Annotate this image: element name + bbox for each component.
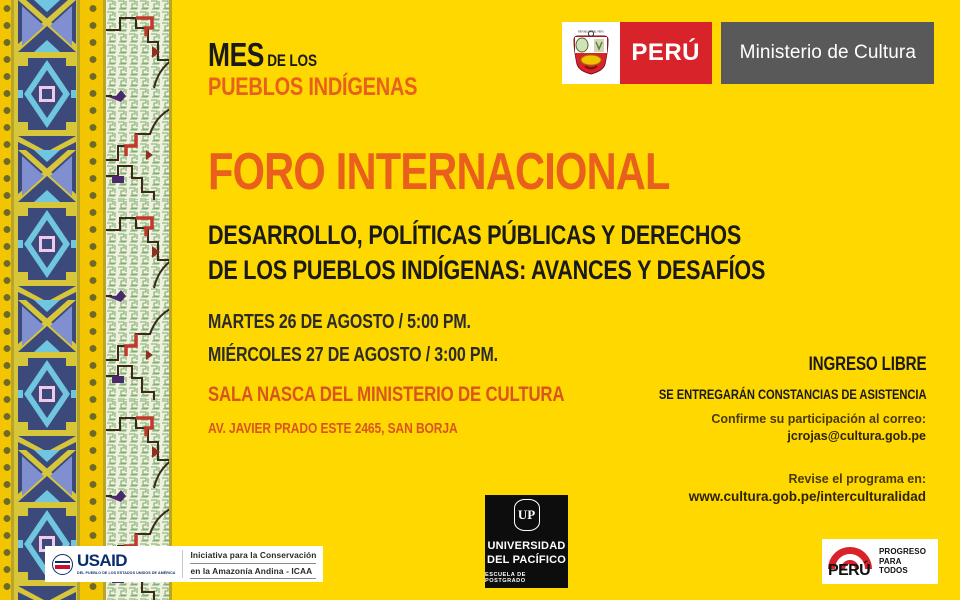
mincul-peru-label: PERÚ [620, 22, 712, 84]
dates-block: MARTES 26 DE AGOSTO / 5:00 PM. MIÉRCOLES… [208, 306, 570, 372]
icaa-line-2: en la Amazonía Andina - ICAA [190, 564, 316, 579]
venue-hall: SALA NASCA DEL MINISTERIO DE CULTURA [208, 381, 564, 408]
program-url[interactable]: www.cultura.gob.pe/interculturalidad [592, 488, 926, 506]
up-line-3: ESCUELA DE POSTGRADO [485, 572, 568, 584]
venue-block: SALA NASCA DEL MINISTERIO DE CULTURA AV.… [208, 381, 653, 439]
poster-canvas: MESDE LOS PUEBLOS INDÍGENAS FORO INTERNA… [0, 0, 960, 600]
kicker-line-mes: MESDE LOS [208, 38, 417, 71]
usaid-wordmark-block: USAID DEL PUEBLO DE LOS ESTADOS UNIDOS D… [77, 552, 175, 575]
kicker-block: MESDE LOS PUEBLOS INDÍGENAS [208, 38, 470, 100]
date-line-2: MIÉRCOLES 27 DE AGOSTO / 3:00 PM. [208, 339, 498, 372]
diamond-pattern-icon [14, 0, 80, 600]
venue-address: AV. JAVIER PRADO ESTE 2465, SAN BORJA [208, 419, 564, 439]
subtitle-line-1: DESARROLLO, POLÍTICAS PÚBLICAS Y DERECHO… [208, 218, 765, 253]
kicker-pueblos-indigenas: PUEBLOS INDÍGENAS [208, 75, 417, 100]
subtitle-block: DESARROLLO, POLÍTICAS PÚBLICAS Y DERECHO… [208, 218, 904, 287]
andean-greca-maze-band [106, 0, 172, 600]
usaid-icaa-logo: USAID DEL PUEBLO DE LOS ESTADOS UNIDOS D… [45, 546, 323, 582]
icaa-line-1: Iniciativa para la Conservación [190, 549, 316, 564]
page-title: FORO INTERNACIONAL [208, 148, 670, 197]
usaid-tagline: DEL PUEBLO DE LOS ESTADOS UNIDOS DE AMÉR… [77, 571, 175, 576]
marca-peru-tagline: PROGRESO PARA TODOS [879, 547, 932, 575]
free-entry-label: INGRESO LIBRE [658, 355, 926, 374]
band-separator [103, 0, 106, 600]
peru-spiral-icon: PERÚ [828, 547, 872, 577]
confirm-label: Confirme su participación al correo: [592, 411, 926, 428]
ministerio-cultura-logo: REPUBLICA DEL PERU PERÚ Ministerio de Cu… [562, 22, 934, 84]
usaid-logo: USAID DEL PUEBLO DE LOS ESTADOS UNIDOS D… [52, 552, 175, 575]
marca-tagline-line-1: PROGRESO [879, 547, 932, 556]
marca-peru-logo: PERÚ PROGRESO PARA TODOS [822, 539, 938, 584]
greca-maze-pattern-icon [106, 0, 172, 600]
subtitle-line-2: DE LOS PUEBLOS INDÍGENAS: AVANCES Y DESA… [208, 253, 765, 288]
kicker-de-los: DE LOS [267, 51, 317, 70]
marca-peru-label: PERÚ [828, 563, 870, 579]
icaa-partner-text: Iniciativa para la Conservación en la Am… [190, 549, 316, 578]
kicker-mes: MES [208, 36, 264, 73]
up-crest-icon: UP [514, 499, 540, 531]
usaid-seal-icon [52, 554, 73, 575]
band-separator [77, 0, 80, 600]
contact-email[interactable]: jcrojas@cultura.gob.pe [592, 428, 926, 445]
certificates-label: SE ENTREGARÁN CONSTANCIAS DE ASISTENCIA [658, 387, 926, 401]
svg-text:REPUBLICA DEL PERU: REPUBLICA DEL PERU [578, 30, 604, 33]
up-line-1: UNIVERSIDAD [488, 540, 566, 553]
band-separator [11, 0, 14, 600]
info-block: INGRESO LIBRE SE ENTREGARÁN CONSTANCIAS … [592, 355, 926, 506]
logo-gap [712, 22, 721, 84]
mincul-ministry-label: Ministerio de Cultura [721, 22, 934, 84]
usaid-wordmark: USAID [77, 552, 175, 569]
andean-diamond-band [14, 0, 80, 600]
peru-coat-of-arms-icon: REPUBLICA DEL PERU [562, 22, 620, 84]
up-line-2: DEL PACÍFICO [487, 554, 566, 567]
universidad-pacifico-logo: UP UNIVERSIDAD DEL PACÍFICO ESCUELA DE P… [485, 495, 568, 588]
logo-divider [182, 550, 183, 578]
date-line-1: MARTES 26 DE AGOSTO / 5:00 PM. [208, 306, 498, 339]
program-label: Revise el programa en: [592, 471, 926, 488]
marca-tagline-line-2: PARA TODOS [879, 557, 932, 576]
